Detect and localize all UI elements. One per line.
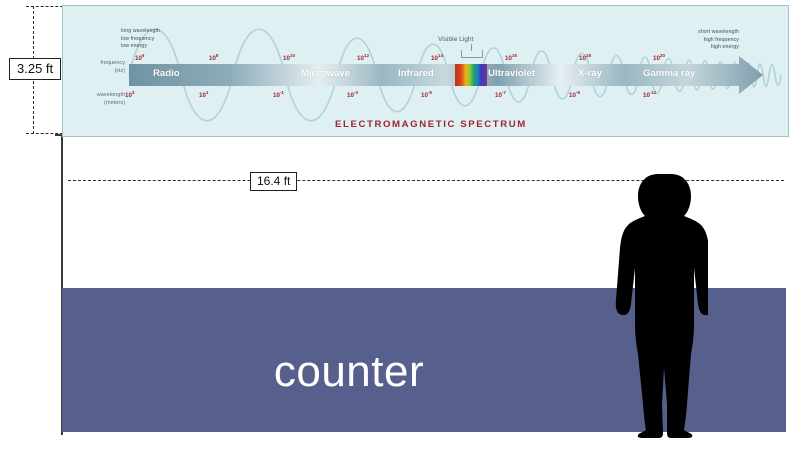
note-long-wavelength: long wavelength low frequency low energy — [121, 28, 160, 51]
frequency-tick-6: 1018 — [579, 53, 591, 62]
spectrum-band-microwave: Microwave — [301, 68, 350, 79]
note-left-line-1: long wavelength — [121, 28, 160, 36]
spectrum-band-infrared: Infrared — [398, 68, 434, 79]
wavelength-tick-1: 101 — [199, 90, 208, 99]
frequency-axis-line-1: frequency — [69, 59, 125, 67]
spectrum-band-radio: Radio — [153, 68, 180, 79]
note-right-line-2: high frequency — [653, 37, 739, 45]
spectrum-title: ELECTROMAGNETIC SPECTRUM — [335, 119, 527, 130]
counter-label: counter — [0, 300, 711, 444]
frequency-tick-5: 1016 — [505, 53, 517, 62]
note-short-wavelength: short wavelength high frequency high ene… — [653, 29, 739, 52]
horizontal-dimension-label: 16.4 ft — [250, 172, 297, 191]
wavelength-tick-5: 10-7 — [495, 90, 506, 99]
frequency-tick-2: 1010 — [283, 53, 295, 62]
frequency-tick-0: 106 — [135, 53, 144, 62]
wavelength-tick-7: 10-11 — [643, 90, 656, 99]
frequency-axis-label: frequency (Hz) — [69, 59, 125, 76]
spectrum-band-gamma-ray: Gamma ray — [643, 68, 695, 79]
person-silhouette — [612, 172, 708, 440]
wavelength-tick-3: 10-3 — [347, 90, 358, 99]
wavelength-axis-line-2: (meters) — [69, 99, 125, 107]
electromagnetic-spectrum-poster: Visible Light long wavelength low freque… — [62, 5, 789, 137]
diagram-canvas: 3.25 ft 16.4 ft — [0, 0, 800, 450]
wavelength-tick-4: 10-5 — [421, 90, 432, 99]
note-left-line-2: low frequency — [121, 36, 160, 44]
visible-light-label: Visible Light — [438, 36, 473, 43]
frequency-tick-7: 1020 — [653, 53, 665, 62]
vertical-dimension-label: 3.25 ft — [9, 58, 61, 80]
visible-light-bracket — [461, 50, 483, 58]
visible-light-rainbow-strip — [455, 64, 487, 86]
wavelength-tick-2: 10-1 — [273, 90, 284, 99]
frequency-axis-line-2: (Hz) — [69, 67, 125, 75]
note-right-line-3: high energy — [653, 44, 739, 52]
spectrum-band-x-ray: X-ray — [578, 68, 602, 79]
wavelength-axis-line-1: wavelength — [69, 91, 125, 99]
wavelength-axis-label: wavelength (meters) — [69, 91, 125, 108]
frequency-tick-1: 108 — [209, 53, 218, 62]
spectrum-band-ultraviolet: Ultraviolet — [488, 68, 535, 79]
frequency-tick-4: 1014 — [431, 53, 443, 62]
wavelength-tick-0: 103 — [125, 90, 134, 99]
frequency-tick-3: 1012 — [357, 53, 369, 62]
note-left-line-3: low energy — [121, 43, 160, 51]
note-right-line-1: short wavelength — [653, 29, 739, 37]
wavelength-tick-6: 10-9 — [569, 90, 580, 99]
